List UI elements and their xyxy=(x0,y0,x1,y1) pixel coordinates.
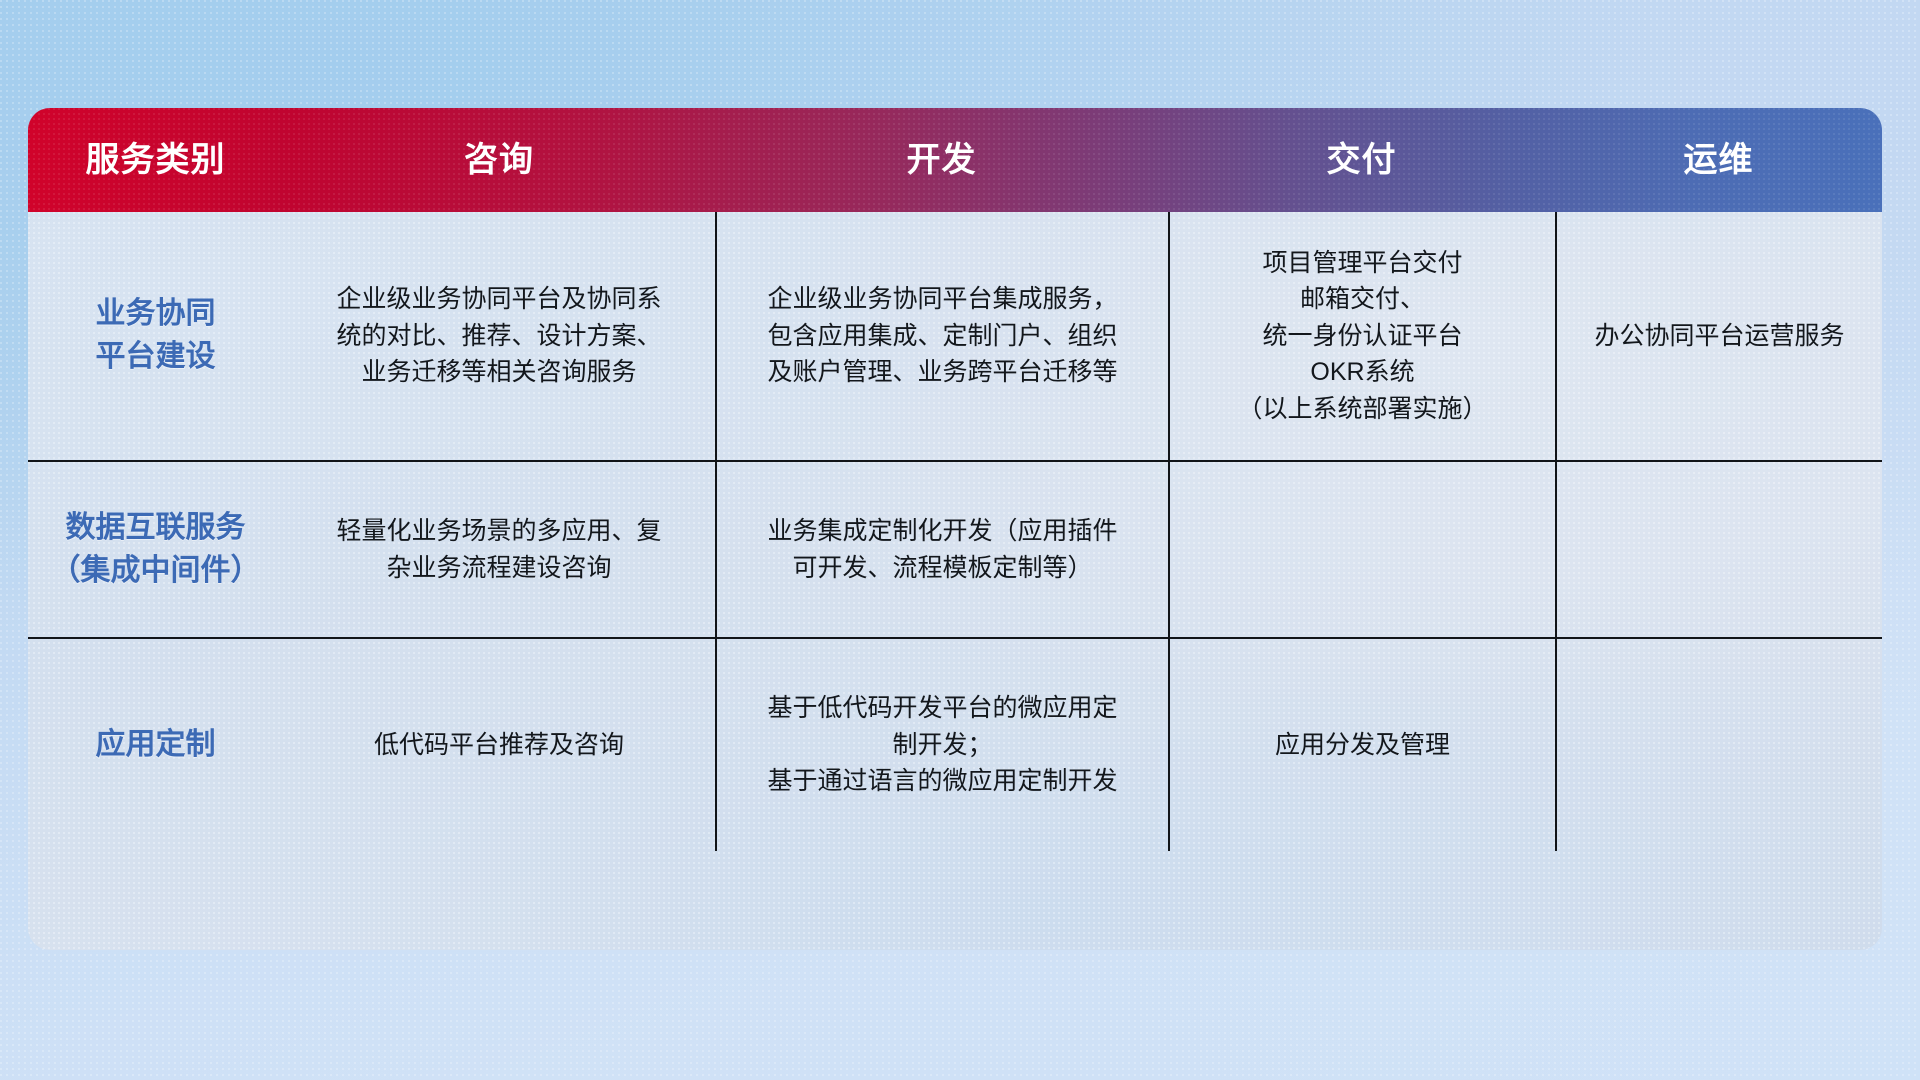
service-matrix-table: 服务类别 咨询 开发 交付 运维 业务协同 平台建设 企业级业务协同平台及协同系… xyxy=(28,108,1882,950)
cell-development: 基于低代码开发平台的微应用定 制开发； 基于通过语言的微应用定制开发 xyxy=(715,639,1168,851)
cell-consulting: 低代码平台推荐及咨询 xyxy=(283,639,715,851)
cell-text: 轻量化业务场景的多应用、复 杂业务流程建设咨询 xyxy=(336,513,661,586)
table-row: 业务协同 平台建设 企业级业务协同平台及协同系 统的对比、推荐、设计方案、 业务… xyxy=(28,212,1882,460)
cell-consulting: 轻量化业务场景的多应用、复 杂业务流程建设咨询 xyxy=(283,462,715,637)
cell-delivery: 项目管理平台交付 邮箱交付、 统一身份认证平台 OKR系统 （以上系统部署实施） xyxy=(1168,212,1555,460)
cell-text: 企业级业务协同平台及协同系 统的对比、推荐、设计方案、 业务迁移等相关咨询服务 xyxy=(336,281,661,391)
row-category-cell: 数据互联服务 （集成中间件） xyxy=(28,462,283,637)
table-header-cell-service-category: 服务类别 xyxy=(28,143,283,177)
cell-text: 企业级业务协同平台集成服务， 包含应用集成、定制门户、组织 及账户管理、业务跨平… xyxy=(767,281,1117,391)
row-category-cell: 业务协同 平台建设 xyxy=(28,212,283,460)
table-header-cell-operations: 运维 xyxy=(1555,143,1882,177)
cell-text: 低代码平台推荐及咨询 xyxy=(374,727,624,764)
table-row: 数据互联服务 （集成中间件） 轻量化业务场景的多应用、复 杂业务流程建设咨询 业… xyxy=(28,460,1882,637)
table-header-cell-consulting: 咨询 xyxy=(283,143,715,177)
cell-text: 办公协同平台运营服务 xyxy=(1594,318,1844,355)
cell-text: 业务集成定制化开发（应用插件 可开发、流程模板定制等） xyxy=(767,513,1117,586)
cell-consulting: 企业级业务协同平台及协同系 统的对比、推荐、设计方案、 业务迁移等相关咨询服务 xyxy=(283,212,715,460)
cell-delivery xyxy=(1168,462,1555,637)
cell-operations: 办公协同平台运营服务 xyxy=(1555,212,1882,460)
cell-delivery: 应用分发及管理 xyxy=(1168,639,1555,851)
table-header-row: 服务类别 咨询 开发 交付 运维 xyxy=(28,108,1882,212)
table-header-cell-development: 开发 xyxy=(715,143,1168,177)
cell-development: 企业级业务协同平台集成服务， 包含应用集成、定制门户、组织 及账户管理、业务跨平… xyxy=(715,212,1168,460)
cell-operations xyxy=(1555,639,1882,851)
category-label: 业务协同 平台建设 xyxy=(96,293,216,378)
cell-operations xyxy=(1555,462,1882,637)
table-header-cell-delivery: 交付 xyxy=(1168,143,1555,177)
cell-text: 项目管理平台交付 邮箱交付、 统一身份认证平台 OKR系统 （以上系统部署实施） xyxy=(1237,245,1487,428)
category-label: 数据互联服务 （集成中间件） xyxy=(51,507,261,592)
category-label: 应用定制 xyxy=(96,724,216,767)
cell-development: 业务集成定制化开发（应用插件 可开发、流程模板定制等） xyxy=(715,462,1168,637)
table-body: 业务协同 平台建设 企业级业务协同平台及协同系 统的对比、推荐、设计方案、 业务… xyxy=(28,212,1882,950)
row-category-cell: 应用定制 xyxy=(28,639,283,851)
cell-text: 基于低代码开发平台的微应用定 制开发； 基于通过语言的微应用定制开发 xyxy=(767,690,1117,800)
cell-text: 应用分发及管理 xyxy=(1275,727,1450,764)
table-row: 应用定制 低代码平台推荐及咨询 基于低代码开发平台的微应用定 制开发； 基于通过… xyxy=(28,637,1882,851)
